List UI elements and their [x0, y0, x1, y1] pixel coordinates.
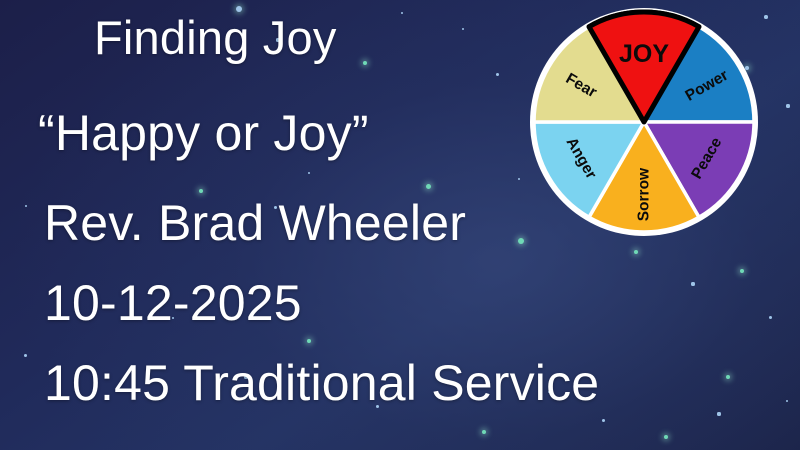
slide-sermon-subtitle: “Happy or Joy” [38, 104, 369, 162]
slide-service-time: 10:45 Traditional Service [44, 354, 599, 412]
star-dot [664, 435, 668, 439]
star-dot [691, 282, 694, 285]
slide-text-block: Finding Joy “Happy or Joy” Rev. Brad Whe… [0, 0, 540, 450]
wheel-label-sorrow: Sorrow [636, 167, 653, 221]
emotion-wheel-svg: JOYPowerPeaceSorrowAngerFear [531, 8, 759, 240]
star-dot [786, 104, 789, 107]
star-dot [769, 316, 772, 319]
star-dot [764, 15, 768, 19]
star-dot [726, 375, 731, 380]
sermon-title-slide: Finding Joy “Happy or Joy” Rev. Brad Whe… [0, 0, 800, 450]
wheel-label-joy: JOY [619, 40, 669, 68]
star-dot [634, 250, 638, 254]
emotion-wheel: JOYPowerPeaceSorrowAngerFear [531, 8, 759, 240]
star-dot [786, 400, 789, 403]
slide-speaker-name: Rev. Brad Wheeler [44, 194, 466, 252]
slide-date: 10-12-2025 [44, 274, 302, 332]
star-dot [740, 269, 744, 273]
star-dot [602, 419, 605, 422]
star-dot [717, 412, 720, 415]
slide-title: Finding Joy [94, 10, 337, 65]
